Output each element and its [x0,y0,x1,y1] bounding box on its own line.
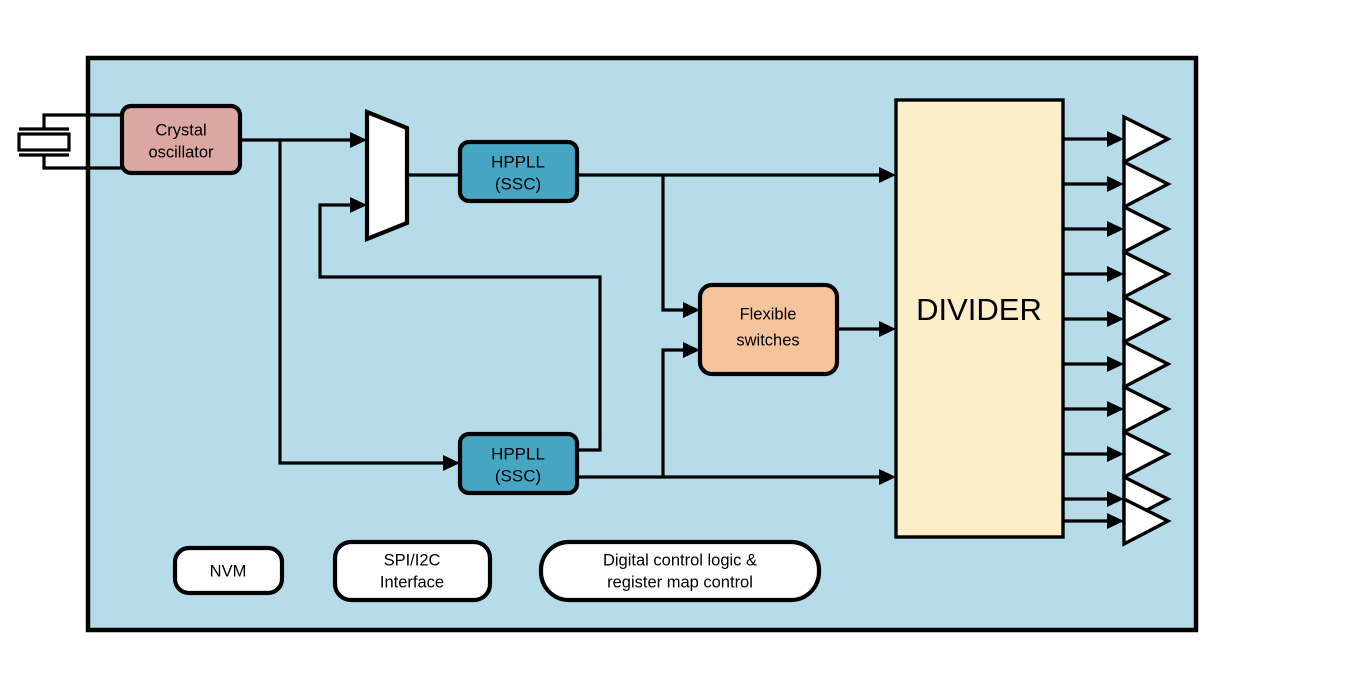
hppll-top-label-line1: HPPLL [491,152,545,171]
nvm-label: NVM [210,562,247,580]
flexible-switches-label-line1: Flexible [740,305,797,323]
divider-block[interactable]: DIVIDER [896,100,1063,537]
crystal-oscillator-box[interactable] [122,106,240,173]
nvm-block[interactable]: NVM [175,548,282,593]
digital-control-label-line1: Digital control logic & [603,551,757,569]
block-diagram-canvas: Crystal oscillator HPP [0,0,1355,685]
crystal-oscillator-label-line1: Crystal [155,121,206,139]
crystal-oscillator-label-line2: oscillator [148,143,214,161]
digital-control-logic-block[interactable]: Digital control logic & register map con… [541,542,819,600]
hppll-top-block[interactable]: HPPLL (SSC) [460,142,577,201]
spi-i2c-label-line2: Interface [380,573,444,591]
hppll-bottom-label-line1: HPPLL [491,444,545,463]
spi-i2c-label-line1: SPI/I2C [384,551,441,569]
clock-generator-block-diagram: Crystal oscillator HPP [0,0,1355,685]
flexible-switches-block[interactable]: Flexible switches [700,285,837,374]
mux-shape[interactable] [367,112,407,239]
hppll-top-label-line2: (SSC) [495,174,541,193]
flexible-switches-label-line2: switches [736,331,799,349]
hppll-bottom-block[interactable]: HPPLL (SSC) [460,434,577,493]
spi-i2c-interface-block[interactable]: SPI/I2C Interface [335,542,490,600]
clock-mux[interactable] [367,112,407,239]
crystal-oscillator-block[interactable]: Crystal oscillator [122,106,240,173]
digital-control-label-line2: register map control [607,573,753,591]
divider-label: DIVIDER [916,292,1042,327]
hppll-bottom-label-line2: (SSC) [495,466,541,485]
flexible-switches-box[interactable] [700,285,837,374]
